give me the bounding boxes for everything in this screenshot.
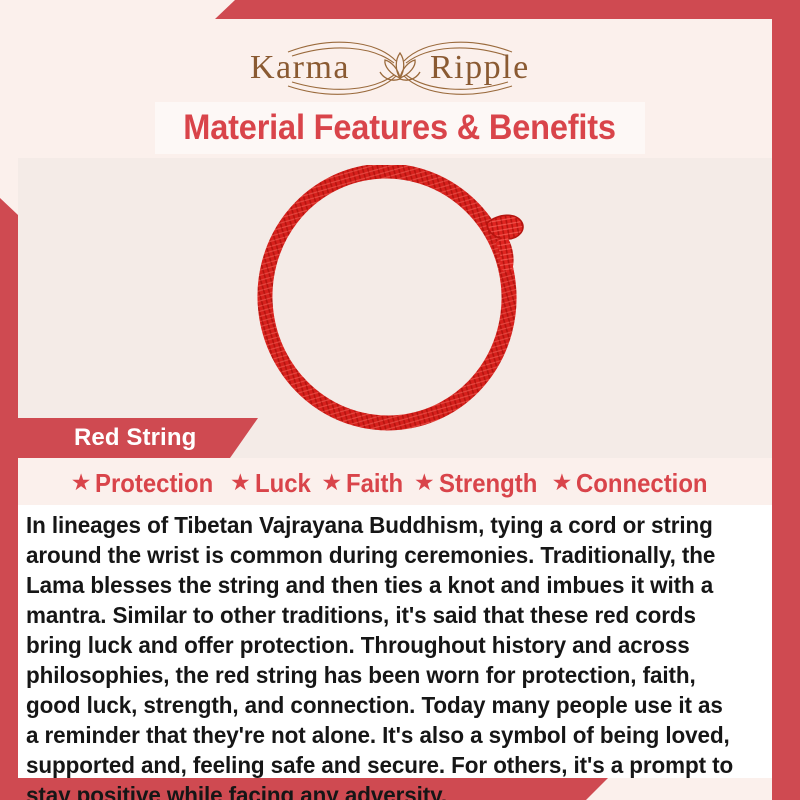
brand-logo: Karma Ripple — [0, 34, 800, 96]
brand-name-right: Ripple — [430, 49, 530, 86]
benefit-item-luck: ★ Luck — [230, 468, 315, 499]
lotus-icon — [380, 53, 420, 80]
brand-logo-graphic: Karma Ripple — [180, 34, 620, 96]
bracelet-cord-shading — [252, 165, 521, 435]
star-icon: ★ — [552, 471, 573, 494]
frame-left-accent-strip — [0, 198, 18, 800]
section-ribbon-label: Red String — [74, 424, 196, 452]
page-title: Material Features & Benefits — [184, 108, 617, 148]
star-icon: ★ — [230, 471, 251, 494]
frame-right-accent-strip — [772, 0, 800, 800]
benefit-item-connection: ★ Connection — [552, 468, 720, 499]
poster-canvas: Karma Ripple Material Features & Benefit… — [0, 0, 800, 800]
benefit-label: Luck — [255, 468, 311, 499]
section-ribbon: Red String — [18, 418, 258, 458]
product-image-red-string-bracelet — [215, 165, 585, 435]
brand-name-left: Karma — [250, 49, 350, 86]
star-icon: ★ — [71, 471, 92, 494]
bracelet-graphic — [215, 165, 585, 435]
star-icon: ★ — [414, 471, 435, 494]
benefit-label: Protection — [95, 468, 213, 499]
benefit-item-faith: ★ Faith — [321, 468, 408, 499]
benefit-item-strength: ★ Strength — [414, 468, 546, 499]
benefit-label: Connection — [576, 468, 708, 499]
page-title-band: Material Features & Benefits — [155, 102, 645, 154]
benefits-list: ★ Protection ★ Luck ★ Faith ★ Strength ★… — [18, 464, 772, 502]
benefit-label: Strength — [439, 468, 537, 499]
bracelet-knot-tail — [501, 239, 507, 271]
star-icon: ★ — [321, 471, 342, 494]
benefit-item-protection: ★ Protection — [71, 468, 224, 499]
frame-top-accent-bar — [215, 0, 800, 19]
description-text: In lineages of Tibetan Vajrayana Buddhis… — [26, 510, 740, 800]
benefit-label: Faith — [346, 468, 403, 499]
